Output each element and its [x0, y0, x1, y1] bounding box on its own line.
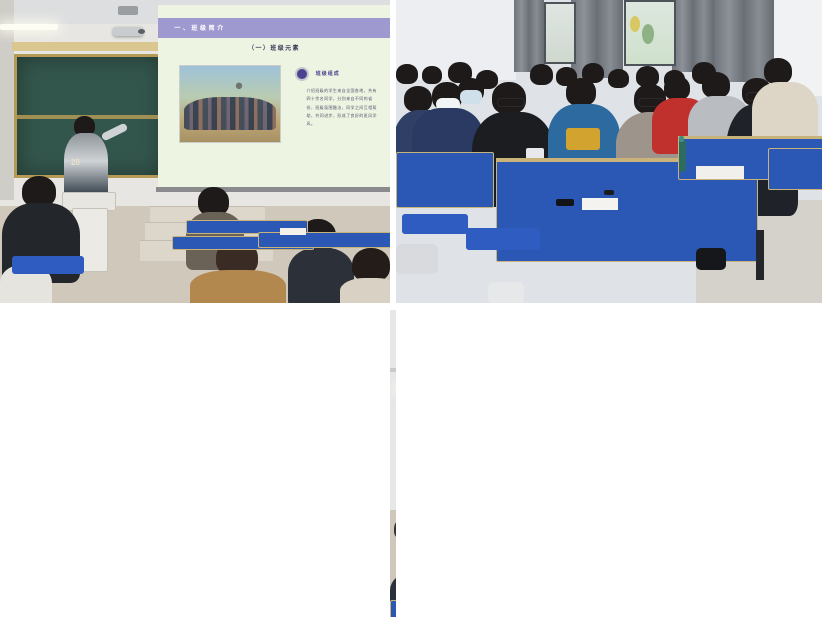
shoe	[396, 244, 438, 274]
student-head	[530, 64, 553, 85]
collage-photo-bottom-left[interactable]: 先进班集体评选 —— 奋楫扬帆正当时 踔厉奋发新征程 汇报人：某某某	[390, 310, 396, 617]
projector-lens	[138, 29, 145, 34]
window	[624, 0, 676, 66]
desk-edge	[678, 136, 822, 139]
paper-sheet	[582, 198, 618, 210]
collage-gap-vertical-bottom	[0, 303, 390, 310]
photo-collage: 一、班级简介 （一）班级元素 班级组成 介绍班级的学生来自全国各地，共有四十余名…	[0, 0, 822, 617]
student-head	[702, 72, 730, 98]
foliage	[630, 16, 640, 32]
slide-header-text: 一、班级简介	[174, 18, 226, 38]
crowd-shape	[184, 97, 276, 131]
jersey-number: 20	[71, 158, 80, 167]
desk-leg	[756, 230, 764, 280]
shoe	[488, 282, 524, 303]
window	[544, 2, 576, 64]
face-mask	[460, 90, 482, 104]
slide-bullet-title: 班级组成	[316, 70, 340, 77]
chair	[12, 256, 84, 274]
student-head	[352, 248, 390, 282]
hoodie-pocket	[566, 128, 600, 150]
desk	[768, 148, 822, 190]
student-body	[190, 270, 286, 303]
classroom-presentation-photo: 一、班级简介 （一）班级元素 班级组成 介绍班级的学生来自全国各地，共有四十余名…	[0, 0, 390, 303]
ceiling-speaker	[118, 6, 138, 15]
student-head	[608, 69, 629, 88]
curtain	[672, 0, 714, 72]
slide-subtitle: （一）班级元素	[158, 43, 390, 52]
curtain	[514, 0, 544, 72]
bottle-cap	[679, 136, 684, 142]
slide-group-photo	[179, 65, 281, 143]
student-head	[422, 66, 442, 84]
chair	[402, 214, 468, 234]
slide-bullet-icon	[297, 69, 307, 79]
paper-sheet	[280, 228, 306, 235]
blackboard-top-trim	[12, 42, 162, 51]
front-wall	[390, 370, 396, 520]
wide-classroom-photo-left: 先进班集体评选 —— 奋楫扬帆正当时 踔厉奋发新征程 汇报人：某某某	[390, 310, 396, 617]
slide-class-introduction: 一、班级简介 （一）班级元素 班级组成 介绍班级的学生来自全国各地，共有四十余名…	[158, 5, 390, 187]
foliage	[642, 24, 654, 44]
desk	[396, 152, 494, 208]
student-body	[340, 278, 390, 303]
water-bottle	[679, 140, 686, 172]
wall-rail	[390, 368, 396, 372]
student-head	[396, 64, 418, 84]
collage-photo-top-left[interactable]: 一、班级简介 （一）班级元素 班级组成 介绍班级的学生来自全国各地，共有四十余名…	[0, 0, 390, 303]
projection-screen: 一、班级简介 （一）班级元素 班级组成 介绍班级的学生来自全国各地，共有四十余名…	[158, 5, 390, 187]
fluorescent-tube	[0, 24, 58, 30]
collage-gap-vertical-bottom-2	[396, 310, 822, 617]
collage-gap-horizontal-right	[0, 310, 390, 617]
desk	[390, 600, 396, 617]
chair	[466, 228, 540, 250]
shoe	[696, 248, 726, 270]
student-head	[404, 86, 432, 112]
smartphone	[556, 199, 574, 206]
slide-body-text: 介绍班级的学生来自全国各地，共有四十余名同学，分别来自不同的省份，班级氛围融洽，…	[306, 87, 378, 129]
audience-closeup-photo	[396, 0, 822, 303]
desk	[258, 232, 390, 248]
side-wall	[0, 0, 14, 200]
student-head	[566, 78, 596, 106]
paper-sheet	[696, 166, 744, 179]
student-head	[764, 58, 792, 84]
screen-shadow	[156, 187, 390, 192]
eyeglasses	[497, 98, 525, 107]
tree-shape	[226, 69, 252, 97]
collage-gap-center	[396, 303, 822, 310]
pen	[604, 190, 614, 195]
student-head	[664, 76, 690, 100]
collage-photo-top-right[interactable]	[396, 0, 822, 303]
